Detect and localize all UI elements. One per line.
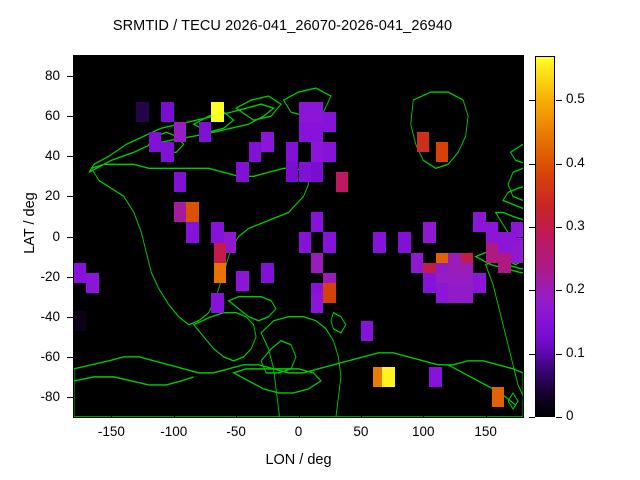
y-tick-label: 40: [14, 148, 60, 163]
colorbar-tick-label: 0.1: [566, 345, 585, 360]
data-cell: [214, 243, 226, 263]
data-cell: [211, 293, 223, 313]
data-cell: [486, 222, 498, 242]
data-cell: [436, 283, 448, 303]
x-tick-mark: [236, 410, 237, 417]
data-cell: [323, 283, 335, 303]
data-cell: [311, 122, 323, 142]
y-tick-mark: [516, 397, 523, 398]
data-cell: [186, 222, 198, 242]
x-tick-label: 100: [393, 424, 453, 439]
y-tick-mark: [516, 277, 523, 278]
data-cell: [473, 212, 485, 232]
y-tick-mark: [67, 76, 74, 77]
data-cell: [214, 263, 226, 283]
data-cell: [311, 293, 323, 313]
colorbar-tick-mark-inner: [529, 227, 535, 228]
data-cell: [398, 232, 410, 252]
data-cell: [299, 162, 311, 182]
map-plot-area: [74, 56, 523, 417]
data-cell: [492, 387, 504, 407]
data-cell: [286, 162, 298, 182]
x-tick-mark: [111, 56, 112, 63]
data-cell: [149, 132, 161, 152]
y-tick-mark: [67, 277, 74, 278]
colorbar-tick-mark-inner: [529, 290, 535, 291]
x-axis-title: LON / deg: [74, 452, 523, 468]
data-cell: [373, 232, 385, 252]
data-cell: [161, 142, 173, 162]
colorbar-tick-mark: [556, 100, 562, 101]
data-cell: [436, 142, 448, 162]
data-cell: [186, 202, 198, 222]
data-cell: [199, 122, 211, 142]
y-tick-label: 80: [14, 68, 60, 83]
chart-title: SRMTID / TECU 2026-041_26070-2026-041_26…: [0, 18, 565, 34]
x-tick-mark: [111, 410, 112, 417]
data-cell: [448, 283, 460, 303]
x-tick-label: -150: [81, 424, 141, 439]
data-cell: [323, 142, 335, 162]
data-cell: [511, 243, 523, 263]
y-tick-mark: [516, 116, 523, 117]
data-cell: [423, 273, 435, 293]
colorbar-gradient: [536, 57, 554, 416]
y-tick-mark: [67, 237, 74, 238]
colorbar-tick-label: 0.5: [566, 91, 585, 106]
data-cell: [299, 102, 311, 122]
colorbar-tick-mark: [556, 290, 562, 291]
data-cell: [211, 222, 223, 242]
data-cell: [323, 232, 335, 252]
data-cell: [299, 122, 311, 142]
colorbar-tick-label: 0.4: [566, 155, 585, 170]
data-cell: [486, 243, 498, 263]
data-cell: [136, 102, 148, 122]
data-cell: [74, 311, 86, 331]
x-tick-mark: [423, 410, 424, 417]
colorbar: [535, 56, 555, 417]
colorbar-tick-mark-inner: [529, 354, 535, 355]
data-cell: [86, 273, 98, 293]
data-cell: [261, 263, 273, 283]
x-tick-mark: [486, 56, 487, 63]
colorbar-tick-mark: [556, 354, 562, 355]
x-tick-mark: [361, 410, 362, 417]
x-tick-label: 0: [269, 424, 329, 439]
data-cell: [323, 112, 335, 132]
y-tick-mark: [67, 196, 74, 197]
x-tick-label: 50: [331, 424, 391, 439]
data-cell: [461, 283, 473, 303]
data-cell: [382, 367, 394, 387]
x-tick-label: -100: [144, 424, 204, 439]
colorbar-tick-mark: [556, 164, 562, 165]
y-tick-mark: [516, 196, 523, 197]
data-cell: [249, 142, 261, 162]
data-cell: [236, 271, 248, 291]
y-tick-mark: [67, 116, 74, 117]
data-cell: [174, 122, 186, 142]
colorbar-tick-label: 0.2: [566, 281, 585, 296]
data-cell: [161, 102, 173, 122]
y-tick-label: 60: [14, 108, 60, 123]
x-tick-label: -50: [206, 424, 266, 439]
data-cell: [299, 232, 311, 252]
colorbar-tick-mark-inner: [529, 100, 535, 101]
y-tick-mark: [516, 317, 523, 318]
x-tick-mark: [486, 410, 487, 417]
data-cell: [74, 263, 86, 283]
y-tick-mark: [67, 397, 74, 398]
data-cell: [311, 253, 323, 273]
data-cell: [473, 273, 485, 293]
y-axis-title: LAT / deg: [22, 163, 38, 283]
x-tick-mark: [236, 56, 237, 63]
y-tick-mark: [516, 76, 523, 77]
x-tick-mark: [299, 410, 300, 417]
x-tick-mark: [174, 56, 175, 63]
data-cell: [417, 132, 429, 152]
colorbar-tick-label: 0: [566, 408, 574, 423]
colorbar-tick-mark-inner: [529, 164, 535, 165]
data-cell: [311, 102, 323, 122]
y-tick-mark: [516, 357, 523, 358]
data-cell: [429, 367, 441, 387]
data-cell: [174, 172, 186, 192]
data-cell: [498, 253, 510, 273]
data-cell: [336, 172, 348, 192]
x-tick-mark: [361, 56, 362, 63]
y-tick-mark: [516, 237, 523, 238]
data-cell: [174, 202, 186, 222]
data-cell: [261, 132, 273, 152]
colorbar-tick-label: 0.3: [566, 218, 585, 233]
x-tick-mark: [174, 410, 175, 417]
x-tick-label: 150: [456, 424, 516, 439]
y-tick-mark: [67, 357, 74, 358]
y-tick-label: -40: [14, 309, 60, 324]
data-cell: [511, 222, 523, 242]
x-tick-mark: [423, 56, 424, 63]
y-tick-mark: [516, 156, 523, 157]
y-tick-mark: [67, 156, 74, 157]
x-tick-mark: [299, 56, 300, 63]
data-cell: [236, 162, 248, 182]
y-tick-label: -60: [14, 349, 60, 364]
colorbar-tick-mark: [556, 417, 562, 418]
data-cell: [311, 142, 323, 162]
data-cell: [423, 222, 435, 242]
data-cell: [286, 142, 298, 162]
data-cell: [311, 212, 323, 232]
y-tick-mark: [67, 317, 74, 318]
data-cell: [211, 102, 223, 122]
colorbar-tick-mark-inner: [529, 417, 535, 418]
y-tick-label: -80: [14, 389, 60, 404]
data-cell: [411, 253, 423, 273]
colorbar-tick-mark: [556, 227, 562, 228]
data-cell: [311, 162, 323, 182]
data-cell: [361, 321, 373, 341]
